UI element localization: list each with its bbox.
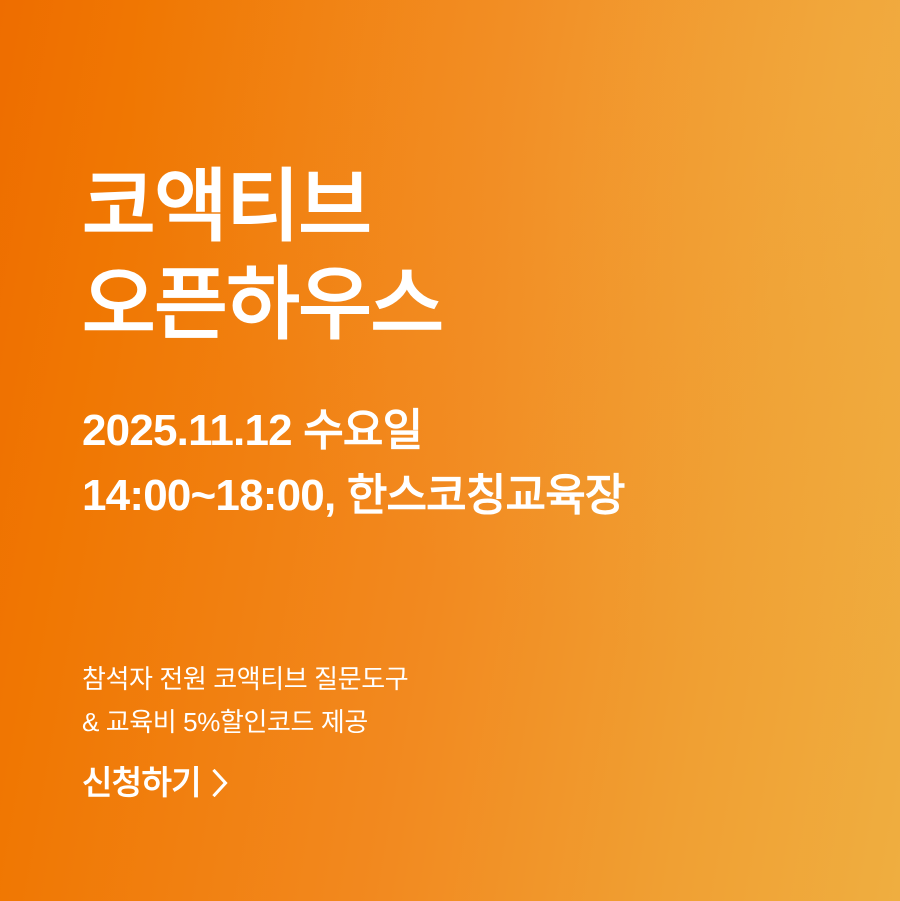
- title-line-1: 코액티브: [82, 158, 443, 256]
- benefit-line-1: 참석자 전원 코액티브 질문도구: [82, 658, 408, 701]
- apply-button-label: 신청하기: [82, 760, 201, 805]
- chevron-right-icon: [212, 769, 229, 797]
- apply-button[interactable]: 신청하기: [82, 760, 229, 805]
- event-date: 2025.11.12 수요일: [82, 398, 625, 463]
- title-line-2: 오픈하우스: [82, 256, 443, 354]
- event-schedule: 2025.11.12 수요일 14:00~18:00, 한스코칭교육장: [82, 398, 625, 528]
- event-promo-banner: 코액티브 오픈하우스 2025.11.12 수요일 14:00~18:00, 한…: [0, 0, 900, 901]
- attendee-benefits: 참석자 전원 코액티브 질문도구 & 교육비 5%할인코드 제공: [82, 658, 408, 744]
- event-time-and-venue: 14:00~18:00, 한스코칭교육장: [82, 463, 625, 528]
- banner-content: 코액티브 오픈하우스 2025.11.12 수요일 14:00~18:00, 한…: [82, 0, 842, 901]
- banner-title: 코액티브 오픈하우스: [82, 158, 443, 354]
- benefit-line-2: & 교육비 5%할인코드 제공: [82, 701, 408, 744]
